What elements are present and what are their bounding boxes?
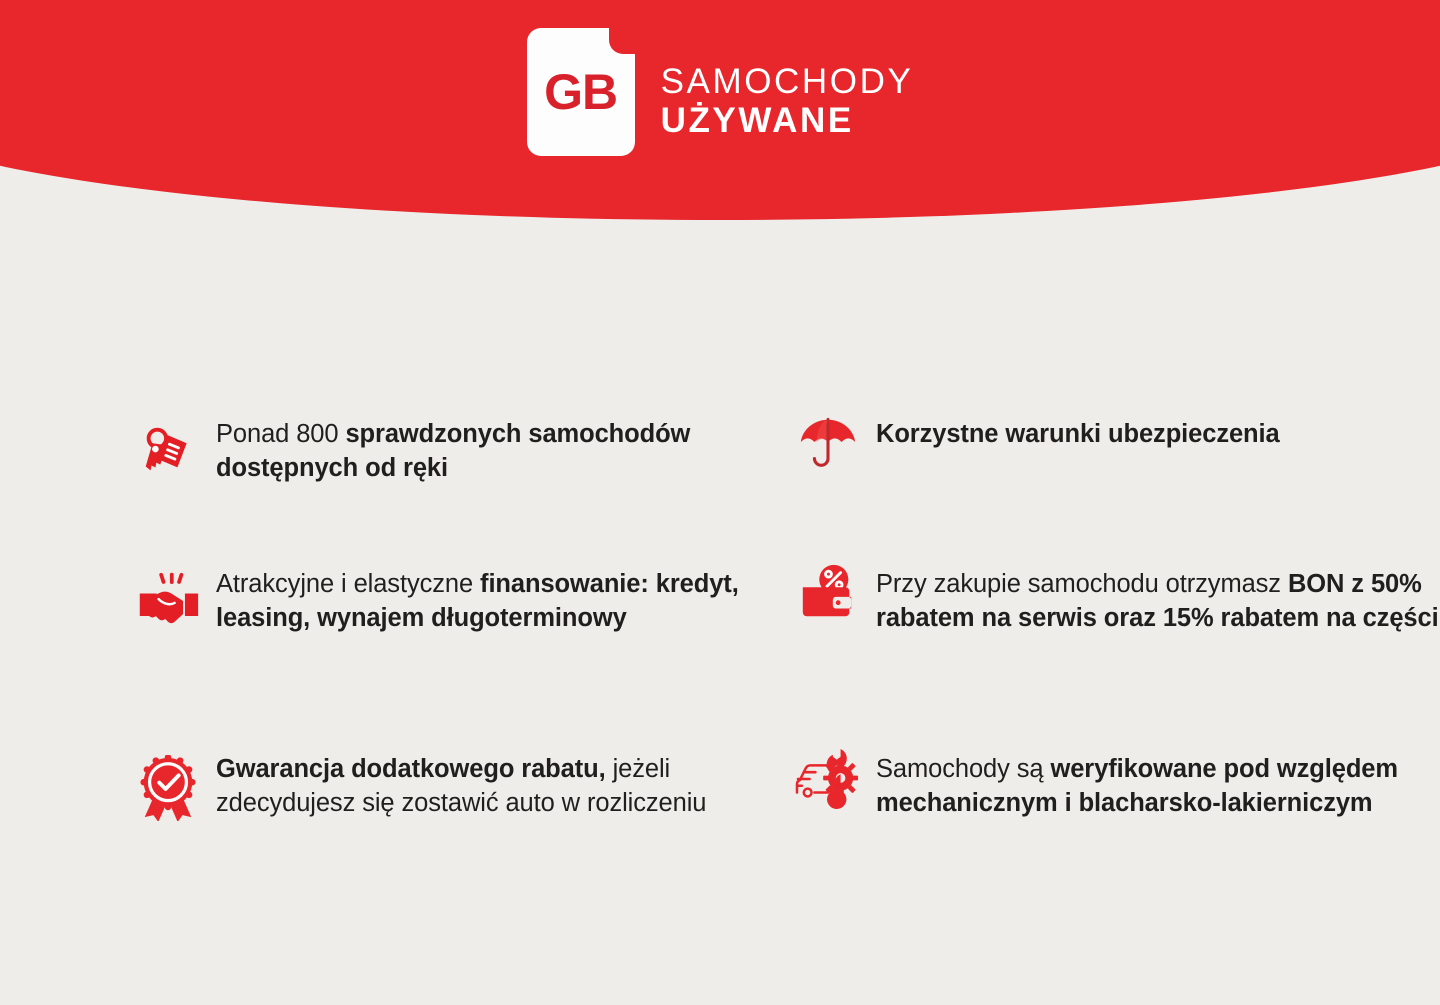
award-badge-icon <box>120 725 216 821</box>
benefit-text: Korzystne warunki ubezpieczenia <box>876 390 1440 452</box>
benefit-text: Ponad 800 sprawdzonych samochodów dostęp… <box>216 390 780 485</box>
benefit-text-plain: Przy zakupie samochodu otrzymasz <box>876 570 1288 598</box>
brand-wordmark-line1: SAMOCHODY <box>661 64 914 100</box>
benefit-item-financing: Atrakcyjne i elastyczne finansowanie: kr… <box>120 540 780 725</box>
brand-wordmark: SAMOCHODY UŻYWANE <box>661 46 914 138</box>
benefit-text: Gwarancja dodatkowego rabatu, jeżeli zde… <box>216 725 780 820</box>
brand-logo[interactable]: GB SAMOCHODY UŻYWANE <box>527 28 914 156</box>
handshake-icon <box>120 540 216 632</box>
benefit-text-plain: Ponad 800 <box>216 420 345 448</box>
benefit-item-trade-in-discount: Gwarancja dodatkowego rabatu, jeżeli zde… <box>120 725 780 910</box>
benefit-item-cars-available: Ponad 800 sprawdzonych samochodów dostęp… <box>120 390 780 540</box>
benefit-item-verification: Samochody są weryfikowane pod względem m… <box>780 725 1440 910</box>
benefit-text-bold: Gwarancja dodatkowego rabatu, <box>216 755 606 783</box>
gb-logo-mark: GB <box>527 28 635 156</box>
benefit-text-plain: Atrakcyjne i elastyczne <box>216 570 480 598</box>
wallet-percent-icon <box>780 540 876 624</box>
benefit-text-bold: Korzystne warunki ubezpieczenia <box>876 420 1280 448</box>
benefits-grid: Ponad 800 sprawdzonych samochodów dostęp… <box>0 390 1440 910</box>
car-key-icon <box>120 390 216 482</box>
header-banner: GB SAMOCHODY UŻYWANE <box>0 0 1440 230</box>
car-wrench-gear-icon <box>780 725 876 809</box>
header-content: GB SAMOCHODY UŻYWANE <box>0 0 1440 230</box>
benefit-text-plain: Samochody są <box>876 755 1050 783</box>
benefit-text: Przy zakupie samochodu otrzymasz BON z 5… <box>876 540 1440 635</box>
logo-initials: GB <box>527 28 635 156</box>
benefit-text: Samochody są weryfikowane pod względem m… <box>876 725 1440 820</box>
benefit-text: Atrakcyjne i elastyczne finansowanie: kr… <box>216 540 780 635</box>
benefit-item-voucher: Przy zakupie samochodu otrzymasz BON z 5… <box>780 540 1440 725</box>
umbrella-icon <box>780 390 876 474</box>
brand-wordmark-line2: UŻYWANE <box>661 103 914 139</box>
benefit-item-insurance: Korzystne warunki ubezpieczenia <box>780 390 1440 540</box>
